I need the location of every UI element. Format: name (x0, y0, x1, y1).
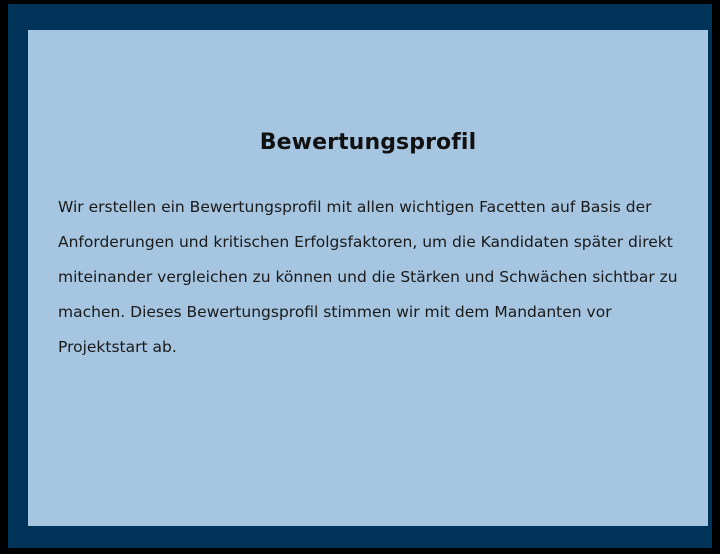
page-title: Bewertungsprofil (28, 130, 708, 155)
body-text-block: Wir erstellen ein Bewertungsprofil mit a… (58, 190, 682, 365)
content-panel: Bewertungsprofil Wir erstellen ein Bewer… (28, 30, 708, 526)
slide-frame-border: Bewertungsprofil Wir erstellen ein Bewer… (8, 4, 712, 548)
body-paragraph: Wir erstellen ein Bewertungsprofil mit a… (58, 190, 682, 365)
slide-root: Bewertungsprofil Wir erstellen ein Bewer… (0, 0, 720, 554)
